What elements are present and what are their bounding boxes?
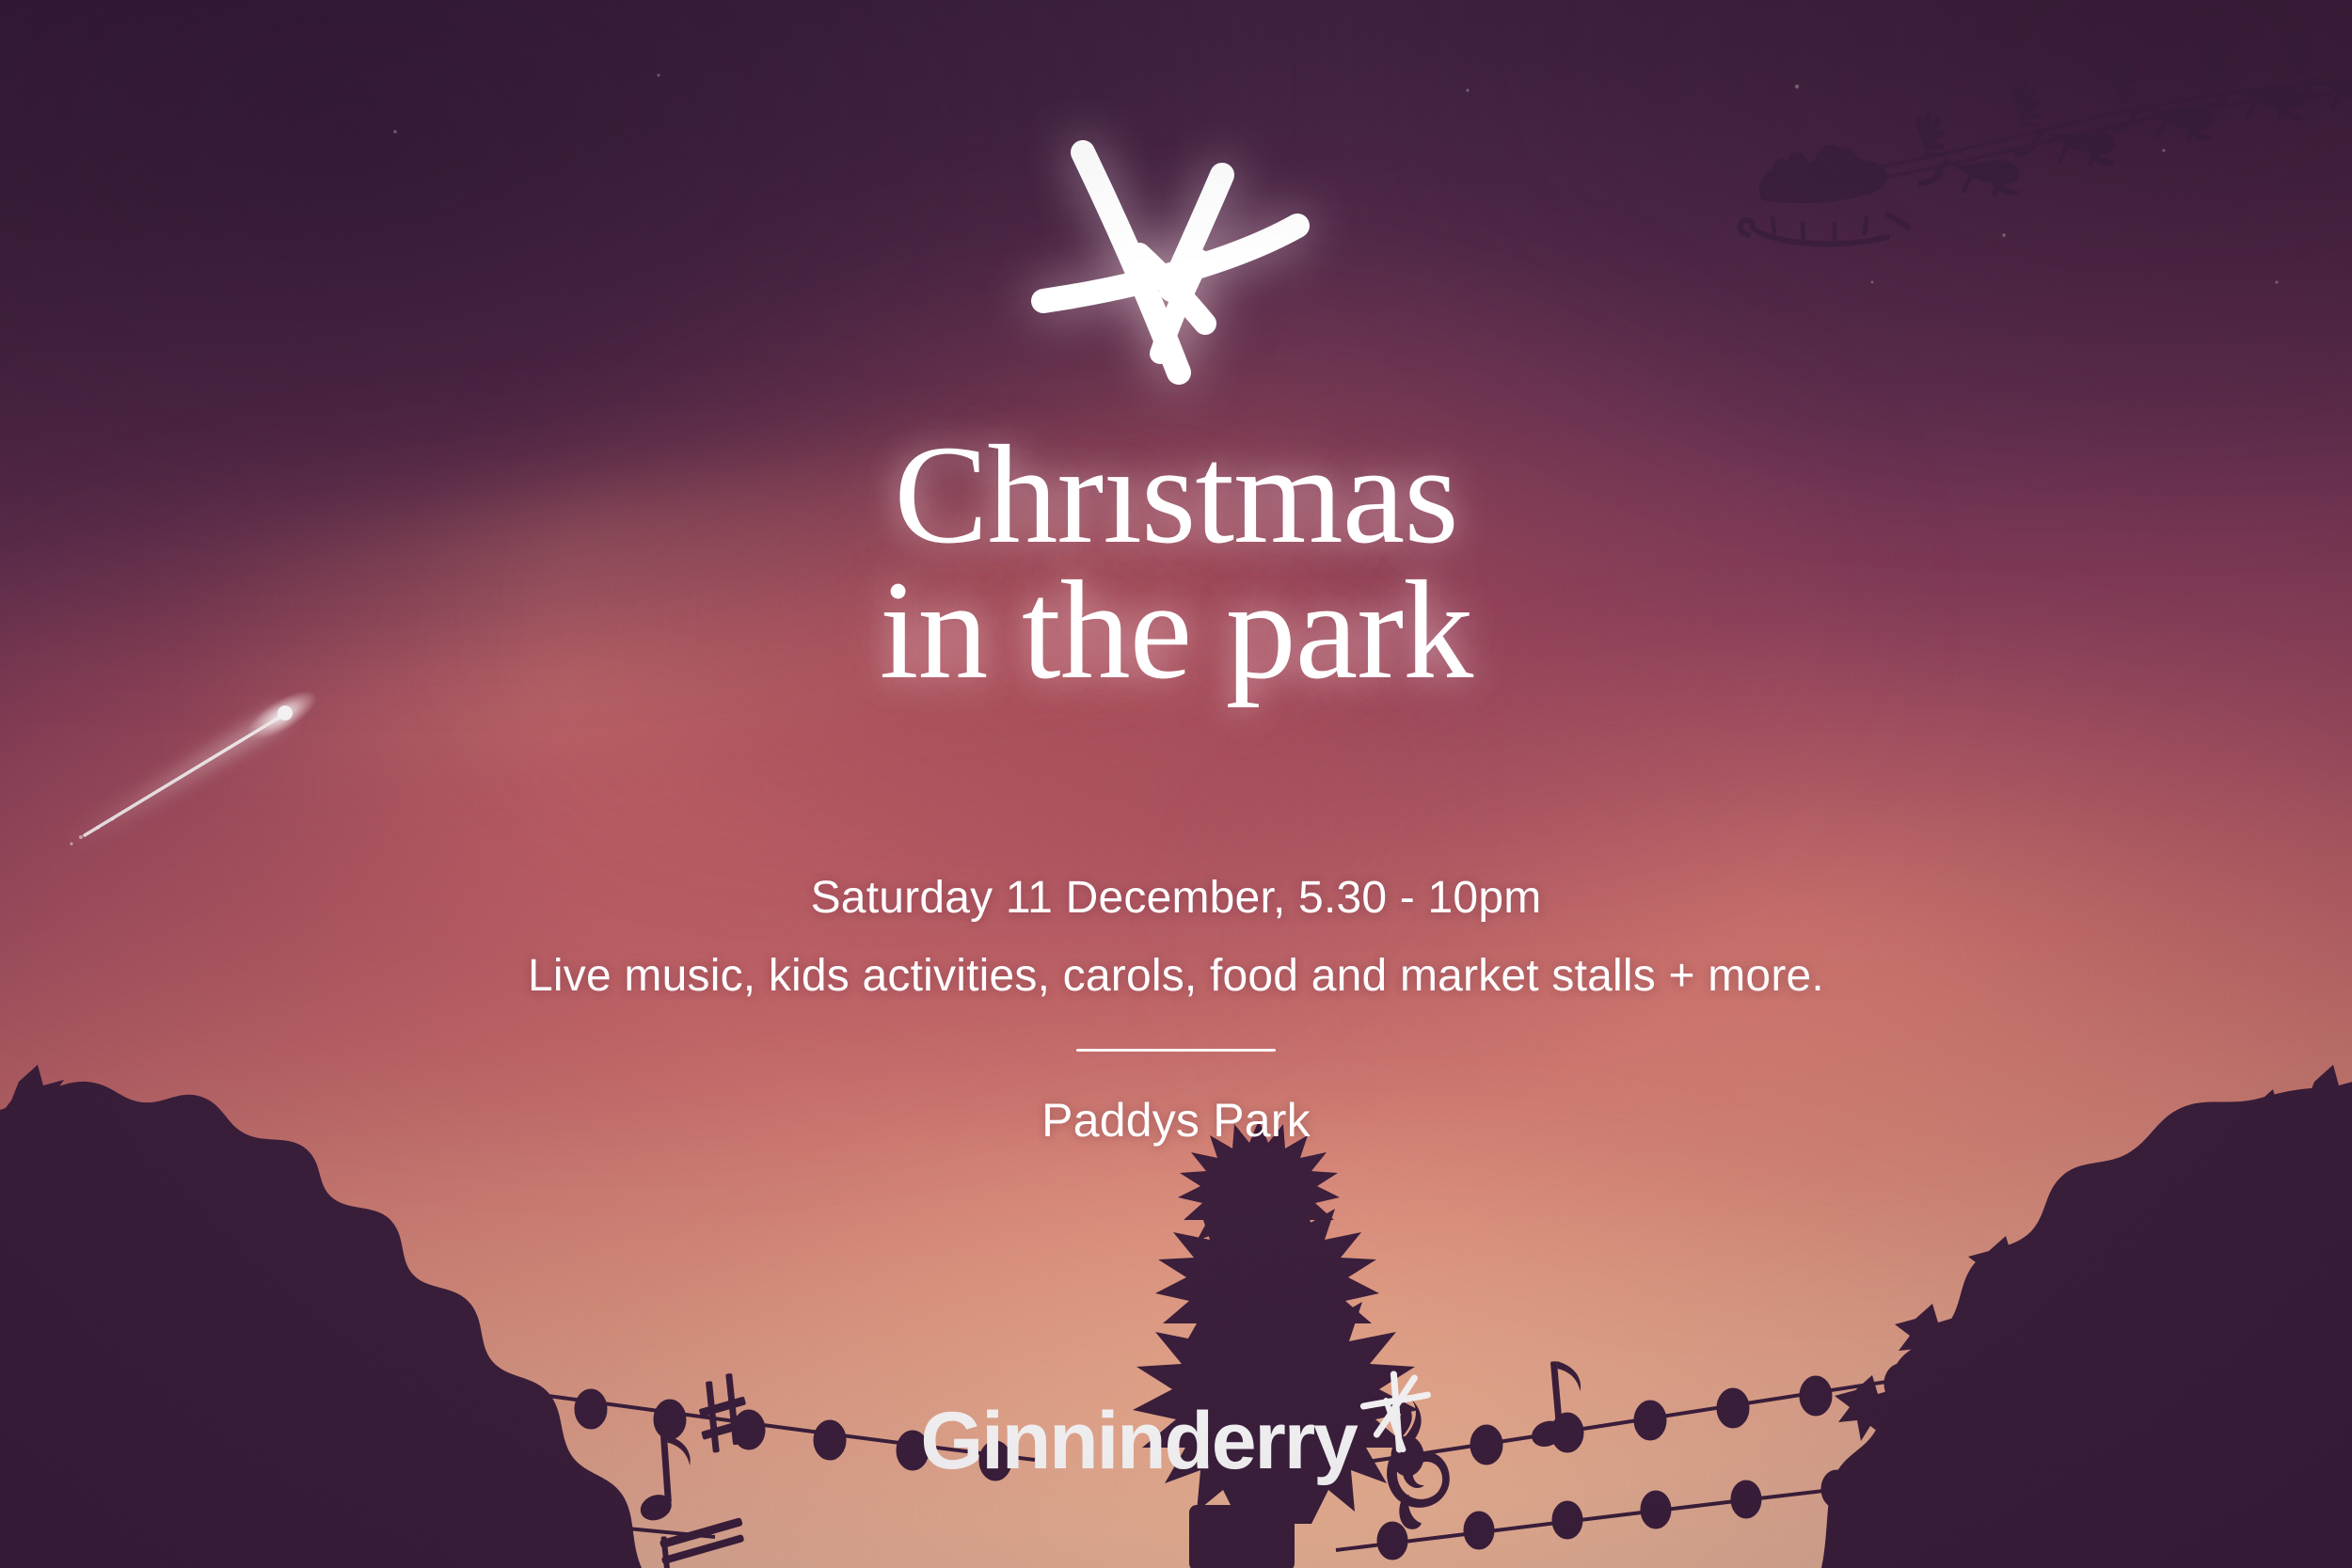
divider — [1076, 1049, 1276, 1052]
event-description: Live music, kids activities, carols, foo… — [528, 950, 1824, 1002]
brand-lockup: Ginninderry — [920, 1401, 1431, 1481]
ginninderry-star-logo-icon — [1021, 135, 1331, 418]
poster-content: Chrıstmas in the park Saturday 11 Decemb… — [0, 0, 2352, 1568]
headline-line-1: Chrıstmas — [894, 417, 1457, 573]
christmas-in-the-park-poster: Chrıstmas in the park Saturday 11 Decemb… — [0, 0, 2352, 1568]
event-date: Saturday 11 December, 5.30 - 10pm — [811, 872, 1542, 924]
venue-name: Paddys Park — [1041, 1093, 1311, 1148]
page-title: Chrıstmas in the park — [880, 427, 1472, 698]
headline-line-2: in the park — [880, 562, 1472, 698]
brand-star-icon — [1359, 1369, 1432, 1455]
brand-name: Ginninderry — [920, 1401, 1356, 1481]
